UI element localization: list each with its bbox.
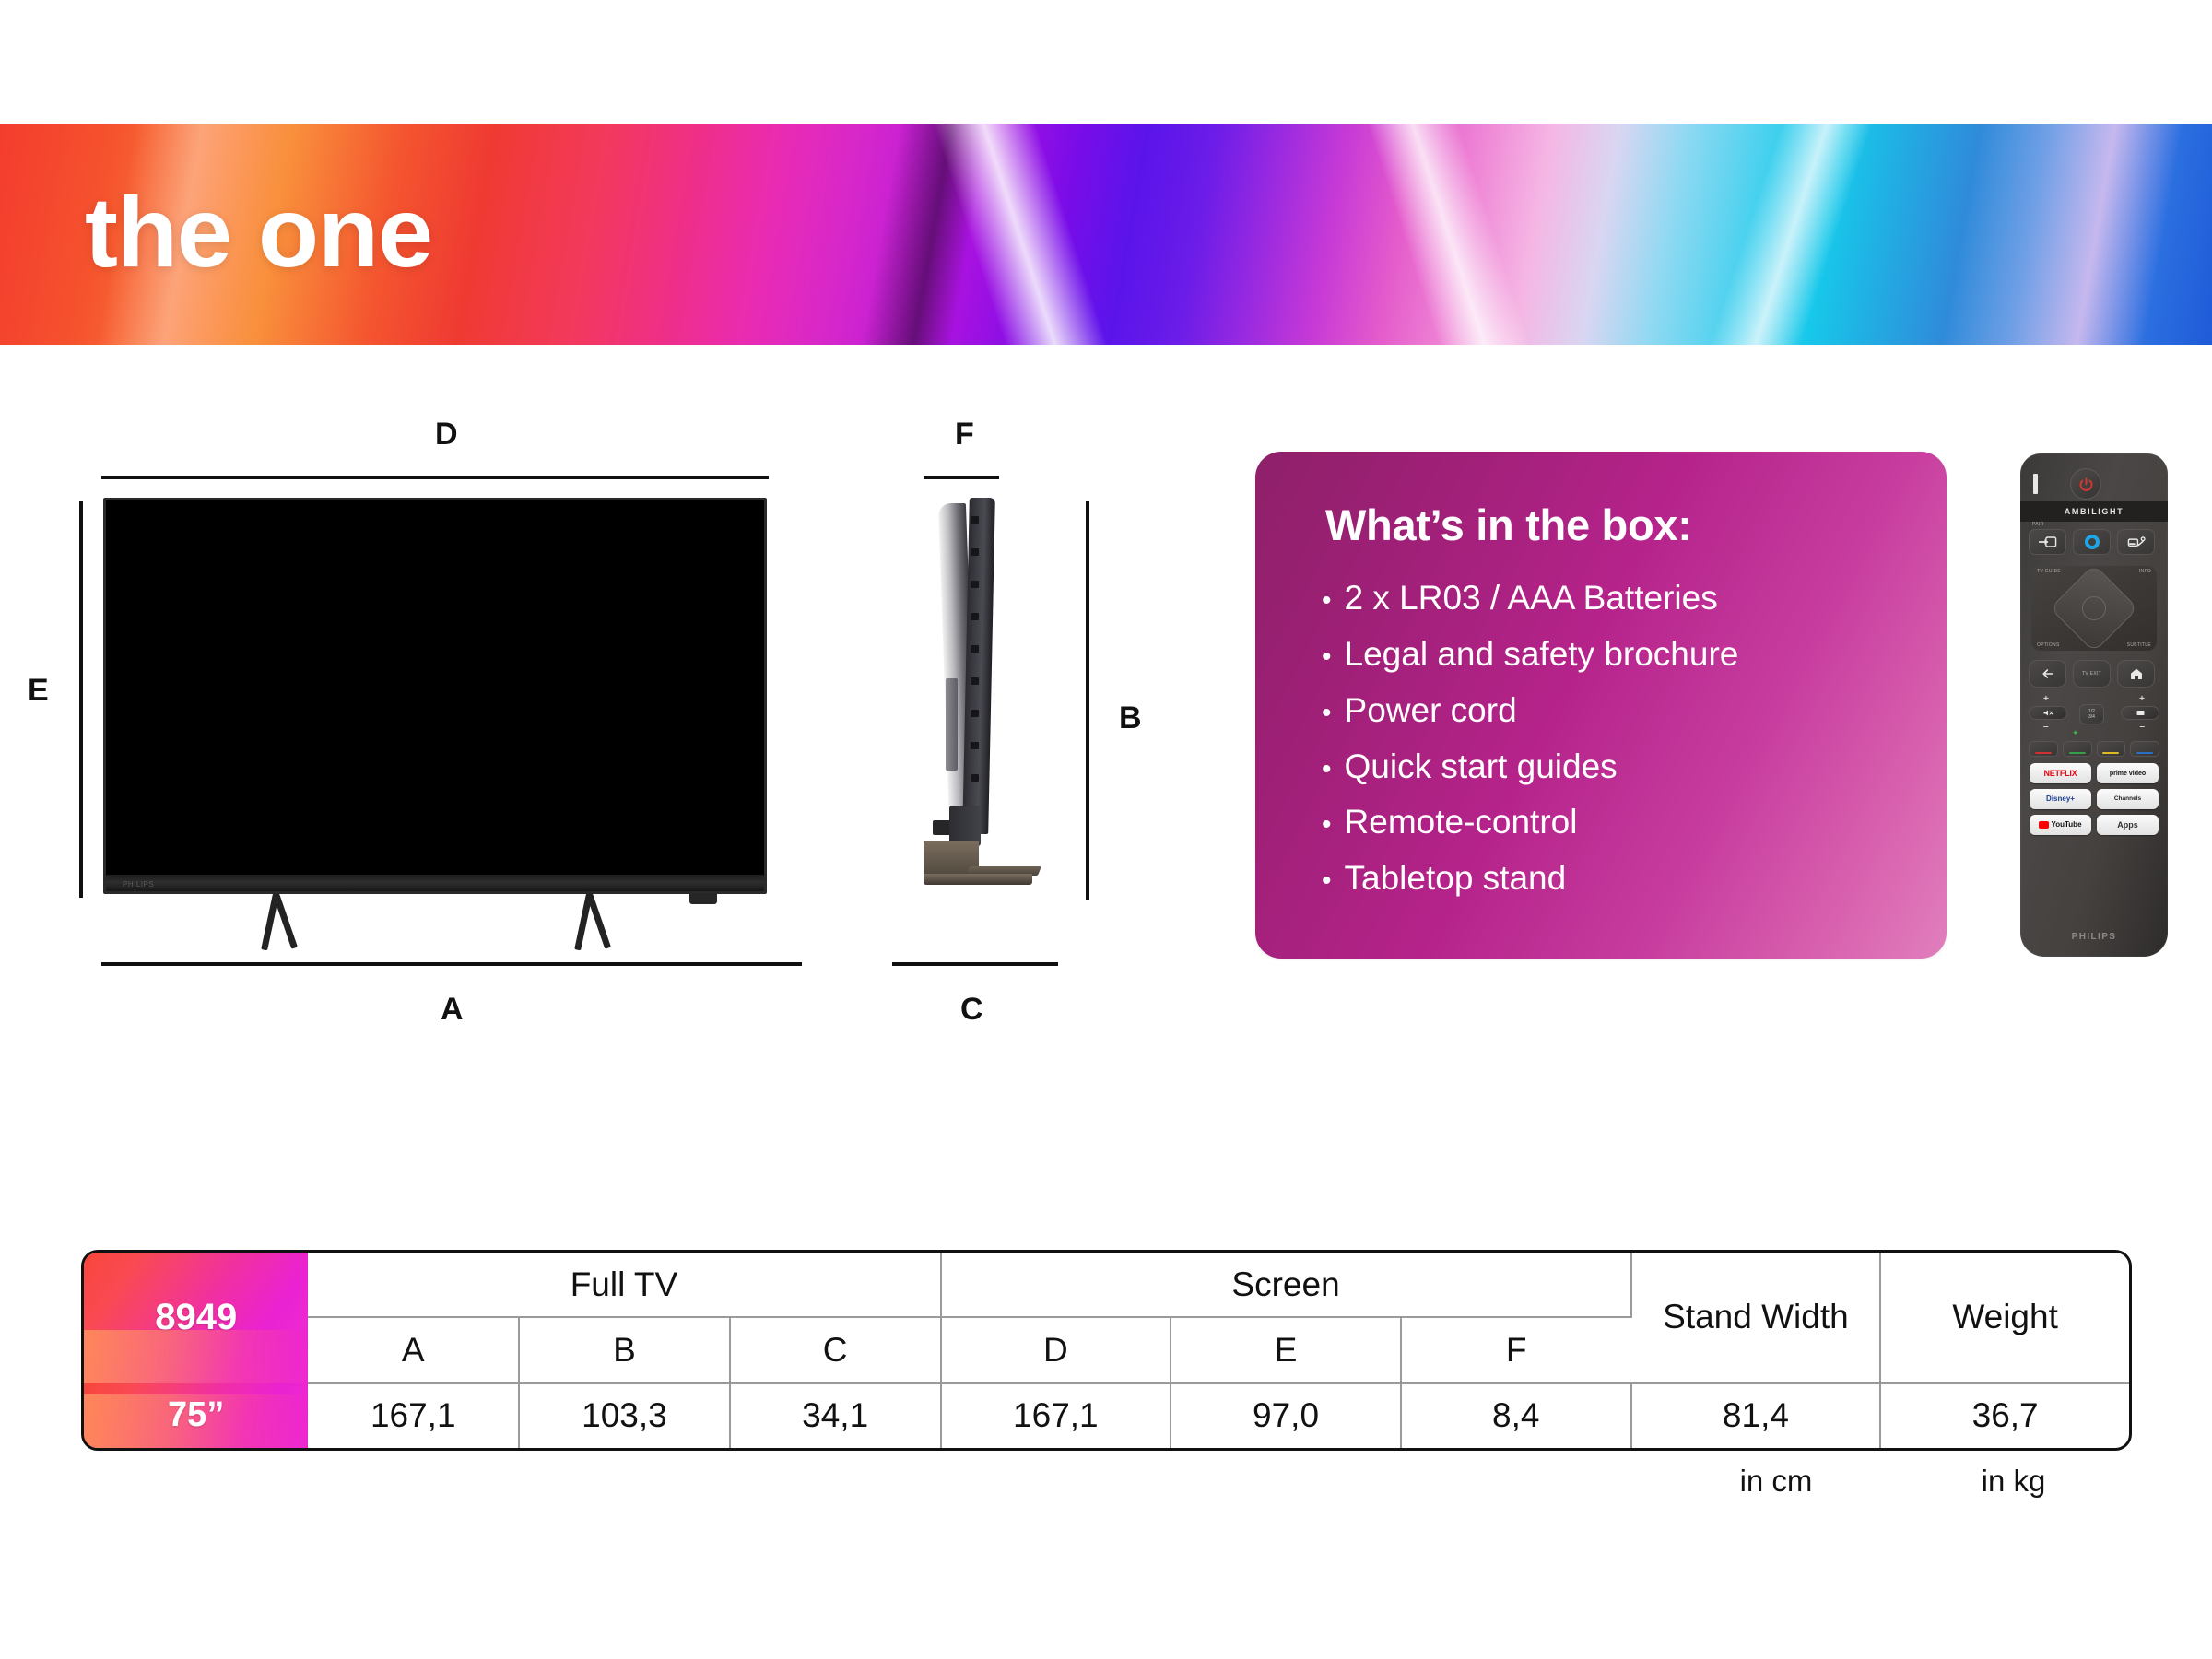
- banner-title: the one: [85, 182, 432, 282]
- tv-brand-mark: PHILIPS: [123, 880, 154, 888]
- disney-plus-button[interactable]: Disney+: [2030, 789, 2091, 809]
- list-item-label: Legal and safety brochure: [1345, 637, 1739, 673]
- list-item-label: 2 x LR03 / AAA Batteries: [1345, 581, 1718, 617]
- channels-label: Channels: [2114, 796, 2141, 803]
- disney-plus-label: Disney+: [2046, 795, 2075, 803]
- tv-exit-label: TV EXIT: [2082, 671, 2101, 677]
- front-bottom-dimension-label: A: [441, 992, 464, 1028]
- channel-list-pill-button[interactable]: [2121, 706, 2159, 720]
- yellow-button[interactable]: [2097, 741, 2126, 757]
- volume-down-label: –: [2043, 723, 2049, 732]
- foot-leg: [574, 893, 593, 950]
- group-header-full-tv: Full TV: [308, 1253, 940, 1317]
- indicator-bar-icon: [2033, 474, 2038, 494]
- home-icon: [2129, 666, 2144, 681]
- bullet-icon: •: [1322, 700, 1332, 727]
- channels-button[interactable]: Channels: [2097, 789, 2159, 809]
- group-header-stand-width: Stand Width: [1631, 1253, 1881, 1383]
- red-button[interactable]: [2029, 741, 2058, 757]
- side-right-dimension-line: [1086, 501, 1089, 900]
- front-top-dimension-line: [101, 476, 769, 479]
- list-item: •Power cord: [1322, 693, 1738, 729]
- remote-color-button-row: [2029, 741, 2159, 757]
- table-row-group-headers: 8949 Full TV Screen Stand Width Weight: [84, 1253, 2129, 1317]
- front-bottom-dimension-line: [101, 962, 802, 966]
- back-button[interactable]: [2029, 660, 2066, 688]
- specifications-table: 8949 Full TV Screen Stand Width Weight A…: [81, 1250, 2132, 1451]
- tv-exit-button[interactable]: TV EXIT: [2073, 660, 2111, 688]
- navigation-pad[interactable]: TV GUIDE INFO OPTIONS SUBTITLE: [2031, 566, 2157, 651]
- options-label: OPTIONS: [2037, 642, 2060, 648]
- back-arrow-icon: [2041, 666, 2055, 681]
- ambilight-button[interactable]: AMBILIGHT: [2020, 501, 2168, 522]
- power-icon: [2078, 477, 2094, 492]
- value-weight: 36,7: [1880, 1383, 2129, 1448]
- list-item: •Remote-control: [1322, 805, 1738, 841]
- list-item-label: Remote-control: [1345, 805, 1578, 841]
- box-panel-title: What’s in the box:: [1325, 500, 1692, 550]
- remote-brand-label: PHILIPS: [2020, 932, 2168, 942]
- value-d: 167,1: [941, 1383, 1171, 1448]
- tv-guide-label: TV GUIDE: [2037, 569, 2061, 574]
- screen-size-cell: 75”: [84, 1383, 308, 1448]
- tv-side-io-panel: [946, 678, 958, 771]
- list-item-label: Tabletop stand: [1345, 861, 1567, 897]
- remote-control: AMBILIGHT PAIR: [2020, 453, 2168, 957]
- column-header-d: D: [941, 1317, 1171, 1383]
- hero-banner: the one: [0, 124, 2212, 345]
- screen-size: 75”: [168, 1395, 224, 1434]
- tv-foot-right: [571, 894, 610, 951]
- remote-volume-channel-row: + – 1/2 3/4 + – ✦: [2029, 695, 2159, 735]
- column-header-e: E: [1171, 1317, 1401, 1383]
- bullet-icon: •: [1322, 756, 1332, 783]
- list-item: •Tabletop stand: [1322, 861, 1738, 897]
- list-item-label: Power cord: [1345, 693, 1517, 729]
- mute-icon: [2042, 709, 2054, 717]
- green-button[interactable]: [2063, 741, 2092, 757]
- youtube-button[interactable]: YouTube: [2030, 815, 2091, 835]
- side-top-dimension-label: F: [955, 417, 974, 453]
- cast-icon: [2127, 535, 2146, 548]
- list-item: •Quick start guides: [1322, 749, 1738, 785]
- front-top-dimension-label: D: [435, 417, 458, 453]
- youtube-label: YouTube: [2051, 821, 2081, 829]
- pair-label: PAIR: [2032, 522, 2044, 527]
- tv-side-vents: [971, 516, 979, 811]
- table-row: 75” 167,1 103,3 34,1 167,1 97,0 8,4 81,4…: [84, 1383, 2129, 1448]
- column-header-a: A: [308, 1317, 519, 1383]
- value-c: 34,1: [730, 1383, 941, 1448]
- value-stand-width: 81,4: [1631, 1383, 1881, 1448]
- source-icon: [2039, 535, 2057, 548]
- cast-button[interactable]: [2117, 529, 2155, 555]
- bullet-icon: •: [1322, 867, 1332, 895]
- list-item-label: Quick start guides: [1345, 749, 1618, 785]
- value-e: 97,0: [1171, 1383, 1401, 1448]
- value-b: 103,3: [519, 1383, 730, 1448]
- model-badge-cell: 8949: [84, 1253, 308, 1383]
- list-item: •2 x LR03 / AAA Batteries: [1322, 581, 1738, 617]
- front-left-dimension-label: E: [28, 673, 49, 709]
- source-button[interactable]: [2029, 529, 2066, 555]
- info-label: INFO: [2139, 569, 2151, 574]
- remote-top-button-row: [2029, 529, 2159, 555]
- youtube-play-icon: [2039, 821, 2049, 829]
- tv-side-body: [912, 498, 1060, 894]
- tv-bottom-bezel: PHILIPS: [106, 875, 764, 891]
- remote-app-shortcut-grid: NETFLIX prime video Disney+ Channels You…: [2030, 763, 2159, 835]
- assistant-circle-icon: [2085, 535, 2100, 549]
- model-number: 8949: [155, 1297, 237, 1337]
- prime-video-button[interactable]: prime video: [2097, 763, 2159, 783]
- group-header-screen: Screen: [941, 1253, 1631, 1317]
- bullet-icon: •: [1322, 587, 1332, 615]
- netflix-label: NETFLIX: [2043, 770, 2077, 778]
- subtitle-label: SUBTITLE: [2127, 642, 2151, 648]
- youtube-label-wrap: YouTube: [2039, 821, 2081, 829]
- assistant-button[interactable]: [2073, 529, 2111, 555]
- value-a: 167,1: [308, 1383, 519, 1448]
- volume-up-label: +: [2043, 695, 2049, 704]
- tv-ir-sensor: [689, 893, 717, 904]
- list-item: •Legal and safety brochure: [1322, 637, 1738, 673]
- prime-video-label: prime video: [2110, 771, 2146, 777]
- front-left-dimension-line: [79, 501, 83, 898]
- channel-list-button[interactable]: 1/2 3/4: [2079, 704, 2104, 724]
- tv-front-body: PHILIPS: [103, 498, 767, 894]
- channel-down-label: –: [2139, 723, 2145, 732]
- side-bottom-dimension-label: C: [960, 992, 983, 1028]
- bullet-icon: •: [1322, 811, 1332, 839]
- channel-up-label: +: [2139, 695, 2145, 704]
- list-icon: [2135, 709, 2147, 717]
- tv-screen: PHILIPS: [103, 498, 767, 894]
- channel-top-label: 1/2: [2088, 710, 2095, 714]
- foot-leg: [261, 893, 279, 950]
- tv-stand-foot: [924, 874, 1032, 885]
- product-spec-sheet: the one D E PHILIPS A F: [0, 0, 2212, 1659]
- apps-button[interactable]: Apps: [2097, 815, 2159, 835]
- power-button[interactable]: [2070, 468, 2101, 500]
- netflix-button[interactable]: NETFLIX: [2030, 763, 2091, 783]
- unit-label-cm: in cm: [1657, 1464, 1895, 1499]
- apps-label: Apps: [2117, 821, 2138, 829]
- box-contents-list: •2 x LR03 / AAA Batteries •Legal and saf…: [1322, 581, 1738, 917]
- side-top-dimension-line: [924, 476, 999, 479]
- ambilight-label: AMBILIGHT: [2065, 507, 2124, 516]
- column-header-c: C: [730, 1317, 941, 1383]
- bullet-icon: •: [1322, 643, 1332, 671]
- home-button[interactable]: [2117, 660, 2155, 688]
- group-header-weight: Weight: [1880, 1253, 2129, 1383]
- side-bottom-dimension-line: [892, 962, 1058, 966]
- mute-button[interactable]: [2029, 706, 2067, 720]
- ok-button[interactable]: [2082, 596, 2106, 620]
- channel-bottom-label: 3/4: [2088, 715, 2095, 720]
- tv-foot-left: [258, 894, 297, 951]
- blue-button[interactable]: [2130, 741, 2159, 757]
- column-header-f: F: [1401, 1317, 1631, 1383]
- side-right-dimension-label: B: [1119, 700, 1142, 736]
- value-f: 8,4: [1401, 1383, 1631, 1448]
- eco-leaf-icon[interactable]: ✦: [2072, 728, 2079, 738]
- whats-in-the-box-panel: What’s in the box: •2 x LR03 / AAA Batte…: [1255, 452, 1947, 959]
- remote-nav-row: TV EXIT: [2029, 660, 2159, 688]
- unit-label-kg: in kg: [1895, 1464, 2132, 1499]
- column-header-b: B: [519, 1317, 730, 1383]
